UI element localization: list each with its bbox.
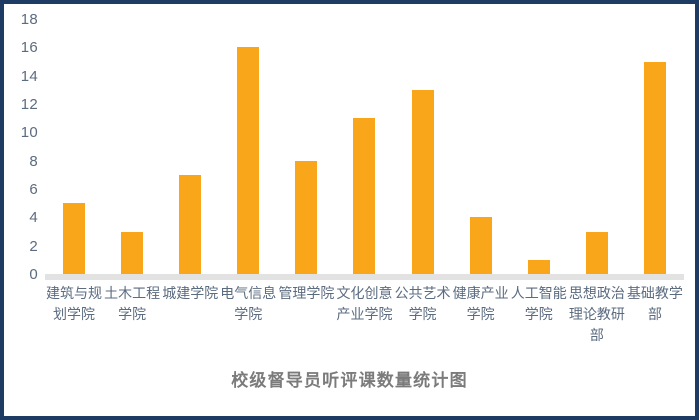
chart-container: 181614121086420 建筑与规划学院土木工程学院城建学院电气信息学院管… [0, 0, 699, 420]
bar-slot [626, 19, 684, 274]
bar[interactable] [295, 161, 317, 274]
x-axis-tick-label: 电气信息学院 [219, 284, 277, 326]
y-axis-tick-label: 12 [4, 97, 38, 112]
bar[interactable] [412, 90, 434, 274]
x-axis-tick-label: 城建学院 [161, 284, 219, 305]
bar-slot [45, 19, 103, 274]
bar[interactable] [528, 260, 550, 274]
y-axis-tick-label: 0 [4, 267, 38, 282]
x-axis-tick-label: 人工智能学院 [510, 284, 568, 326]
bar[interactable] [121, 232, 143, 275]
bar-slot [394, 19, 452, 274]
y-axis-tick-label: 14 [4, 69, 38, 84]
y-axis: 181614121086420 [4, 12, 38, 274]
x-axis-baseline [45, 274, 684, 280]
bar[interactable] [644, 62, 666, 275]
bar-slot [103, 19, 161, 274]
y-axis-tick-label: 6 [4, 182, 38, 197]
x-axis-tick-label: 思想政治理论教研部 [568, 284, 626, 347]
bar[interactable] [586, 232, 608, 275]
y-axis-tick-label: 8 [4, 154, 38, 169]
bar[interactable] [237, 47, 259, 274]
bar-slot [219, 19, 277, 274]
y-axis-tick-label: 2 [4, 239, 38, 254]
bar-slot [510, 19, 568, 274]
x-axis-tick-label: 公共艺术学院 [394, 284, 452, 326]
y-axis-tick-label: 4 [4, 210, 38, 225]
x-axis-tick-label: 建筑与规划学院 [45, 284, 103, 326]
bar-slot [568, 19, 626, 274]
x-axis-tick-label: 管理学院 [277, 284, 335, 305]
x-axis-tick-label: 基础教学部 [626, 284, 684, 326]
bar-slot [335, 19, 393, 274]
plot-area: 181614121086420 建筑与规划学院土木工程学院城建学院电气信息学院管… [4, 4, 695, 416]
bar-slot [452, 19, 510, 274]
bar[interactable] [63, 203, 85, 274]
x-axis-tick-label: 健康产业学院 [452, 284, 510, 326]
y-axis-tick-label: 18 [4, 12, 38, 27]
bar-series [45, 19, 684, 274]
x-axis-labels: 建筑与规划学院土木工程学院城建学院电气信息学院管理学院文化创意产业学院公共艺术学… [45, 284, 684, 362]
y-axis-tick-label: 10 [4, 125, 38, 140]
x-axis-tick-label: 文化创意产业学院 [335, 284, 393, 326]
bar-slot [277, 19, 335, 274]
bar[interactable] [179, 175, 201, 274]
bar-slot [161, 19, 219, 274]
chart-title: 校级督导员听评课数量统计图 [4, 369, 695, 393]
x-axis-tick-label: 土木工程学院 [103, 284, 161, 326]
y-axis-tick-label: 16 [4, 40, 38, 55]
bar[interactable] [470, 217, 492, 274]
bar[interactable] [353, 118, 375, 274]
